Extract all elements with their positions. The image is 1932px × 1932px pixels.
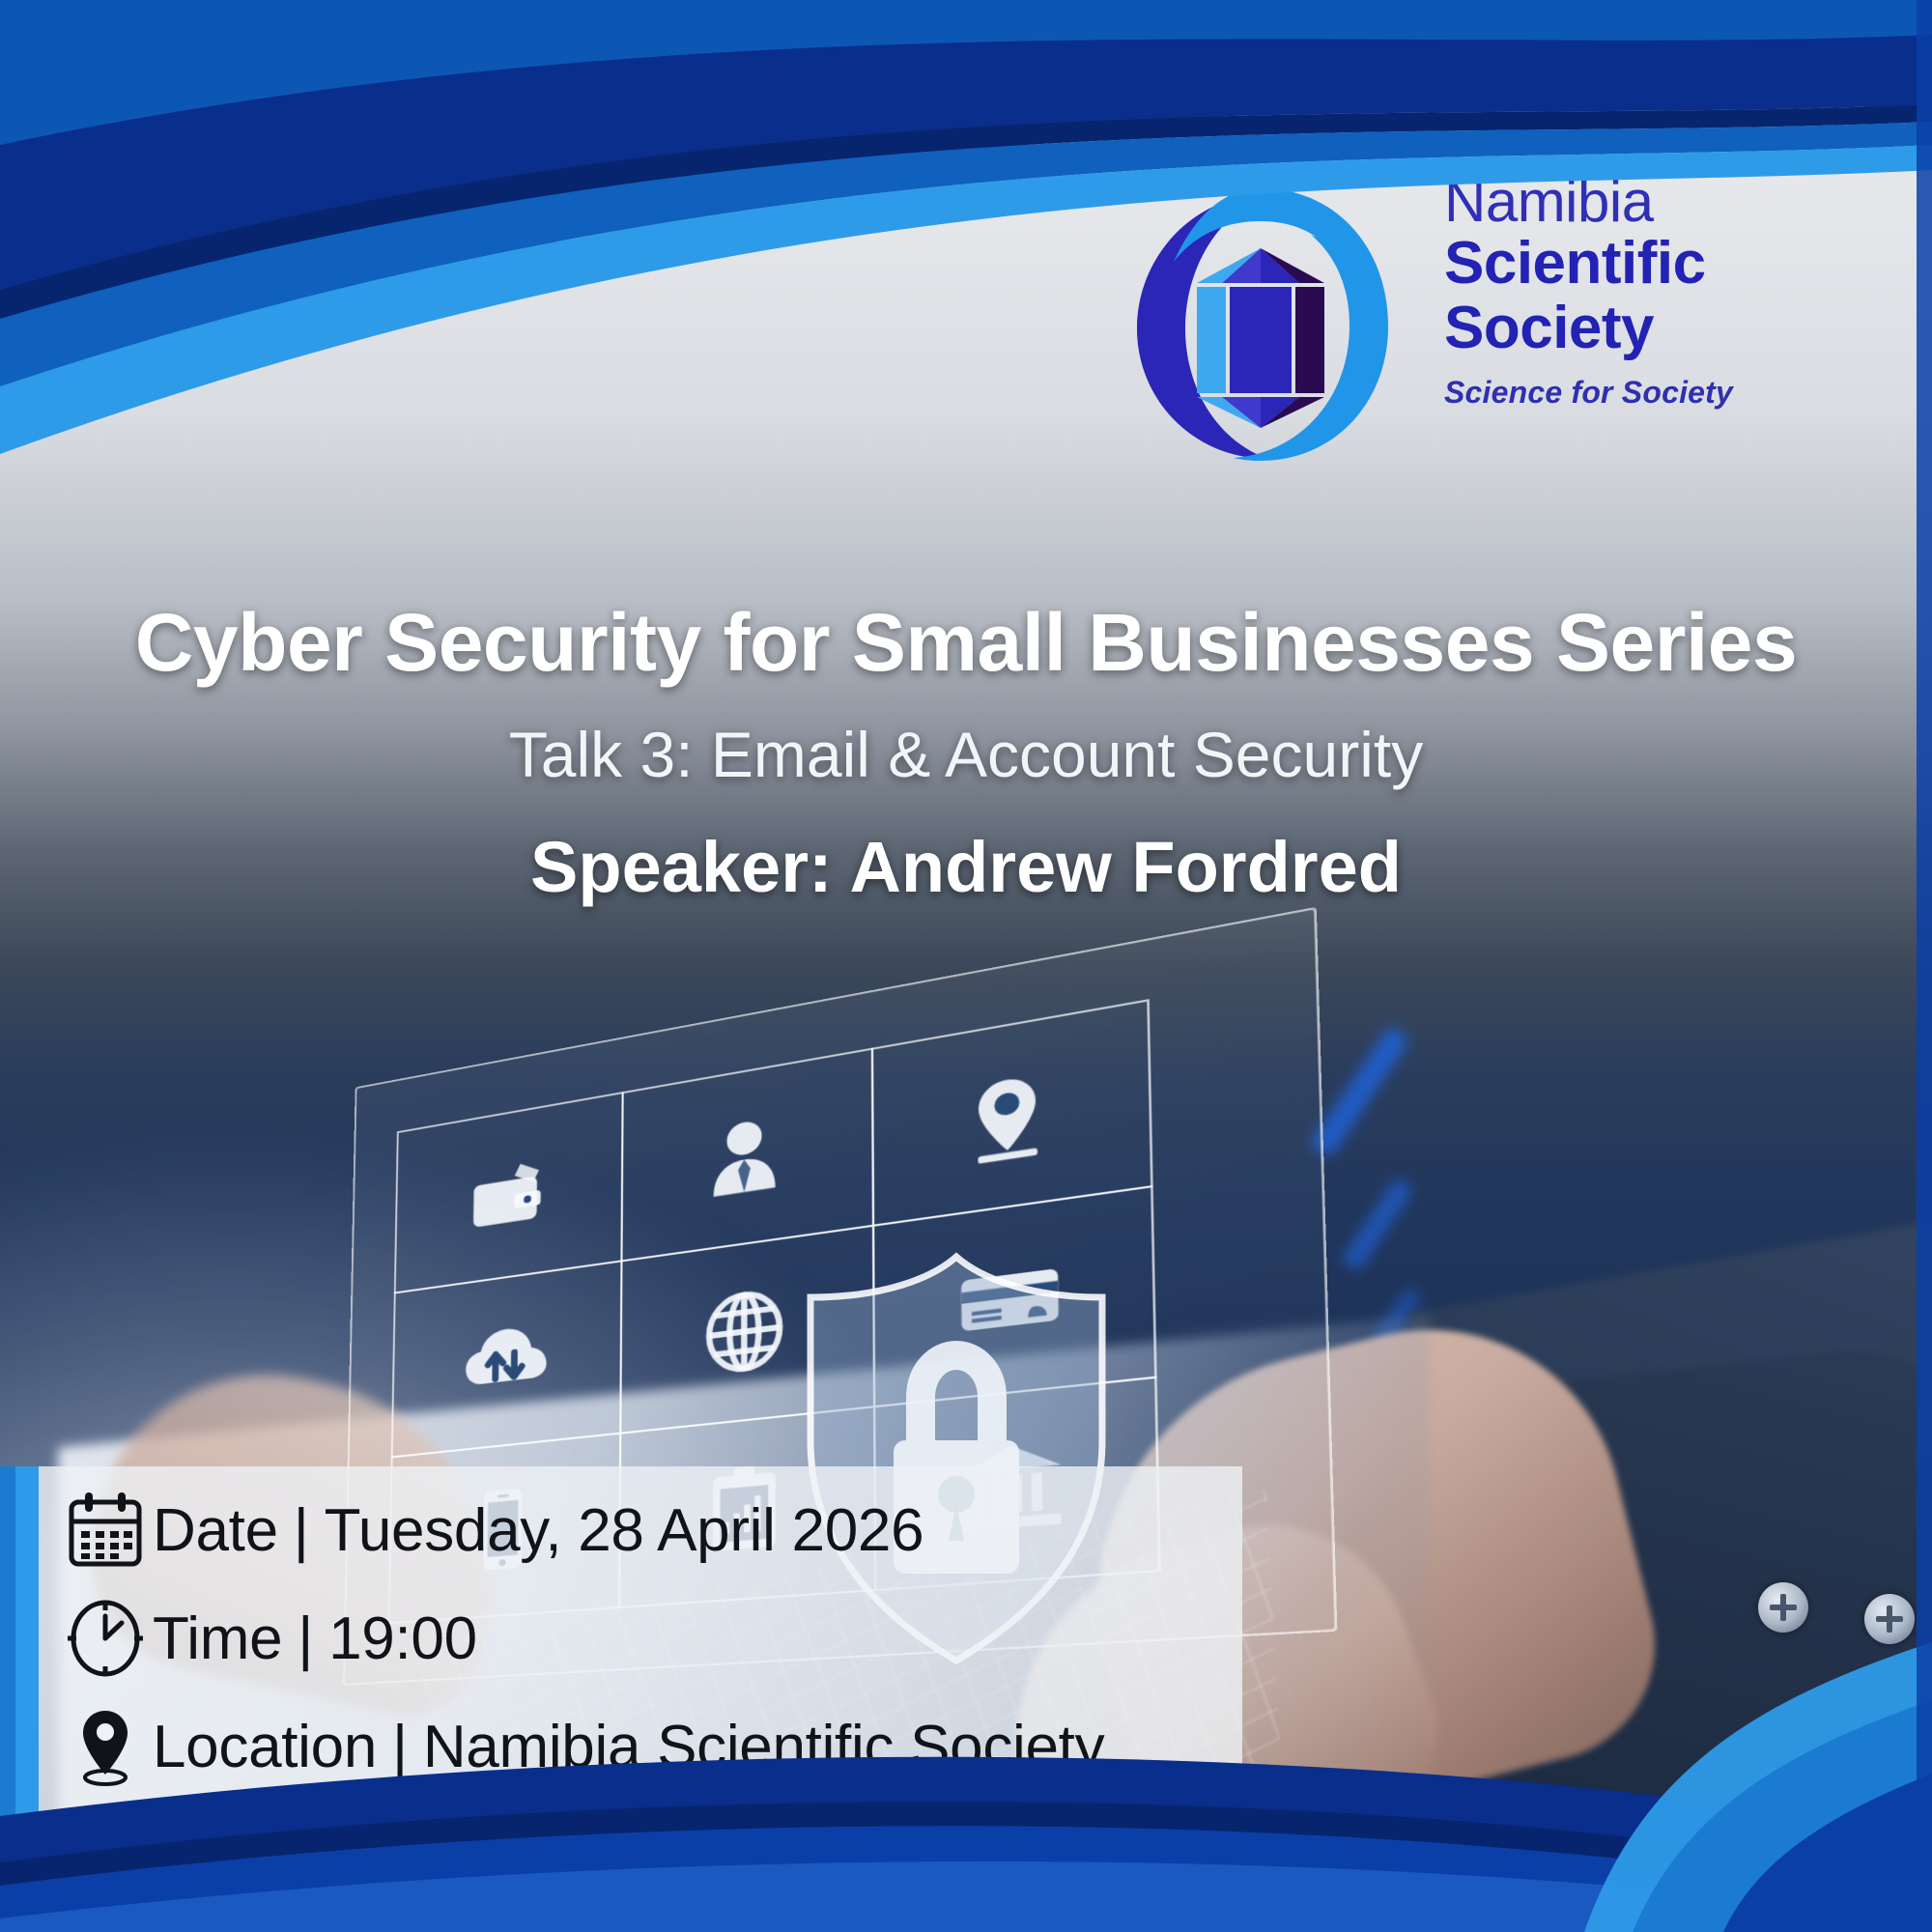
detail-label-time: Time [153,1605,282,1672]
talk-subtitle: Talk 3: Email & Account Security [0,720,1932,790]
logo-tagline: Science for Society [1444,375,1831,411]
clock-icon [58,1597,153,1680]
namibia-scientific-society-crystal-logo [1106,169,1415,478]
cloud-sync-icon [391,1261,623,1459]
detail-label-date: Date [153,1497,278,1564]
detail-text-date: Date|Tuesday, 28 April 2026 [153,1496,923,1565]
detail-separator: | [282,1605,328,1672]
event-poster: Cyber Security for Small Businesses Seri… [0,0,1932,1932]
detail-row-date: Date|Tuesday, 28 April 2026 [37,1476,1242,1584]
detail-label-location: Location [153,1714,377,1780]
map-pin-icon [58,1705,153,1788]
page-title: Cyber Security for Small Businesses Seri… [0,599,1932,687]
cuff-button [1864,1594,1915,1644]
speaker-line: Speaker: Andrew Fordred [0,828,1932,906]
detail-value-time: 19:00 [328,1605,477,1672]
detail-value-date: Tuesday, 28 April 2026 [325,1497,924,1564]
detail-separator: | [377,1714,423,1780]
detail-separator: | [278,1497,325,1564]
headline-block: Cyber Security for Small Businesses Seri… [0,599,1932,907]
detail-text-location: Location|Namibia Scientific Society [153,1713,1104,1781]
event-details-panel: Date|Tuesday, 28 April 2026 Time|19:00 [37,1466,1242,1853]
cuff-button [1758,1582,1808,1633]
detail-value-location: Namibia Scientific Society [423,1714,1104,1780]
calendar-icon [58,1489,153,1572]
detail-row-location: Location|Namibia Scientific Society [37,1692,1242,1801]
logo-line-scientific: Scientific [1444,232,1831,297]
organisation-logo: Namibia Scientific Society Science for S… [1106,169,1840,478]
logo-wordmark: Namibia Scientific Society Science for S… [1444,171,1831,411]
detail-row-time: Time|19:00 [37,1584,1242,1692]
detail-text-time: Time|19:00 [153,1605,477,1673]
logo-line-namibia: Namibia [1444,171,1831,232]
logo-line-society: Society [1444,297,1831,361]
